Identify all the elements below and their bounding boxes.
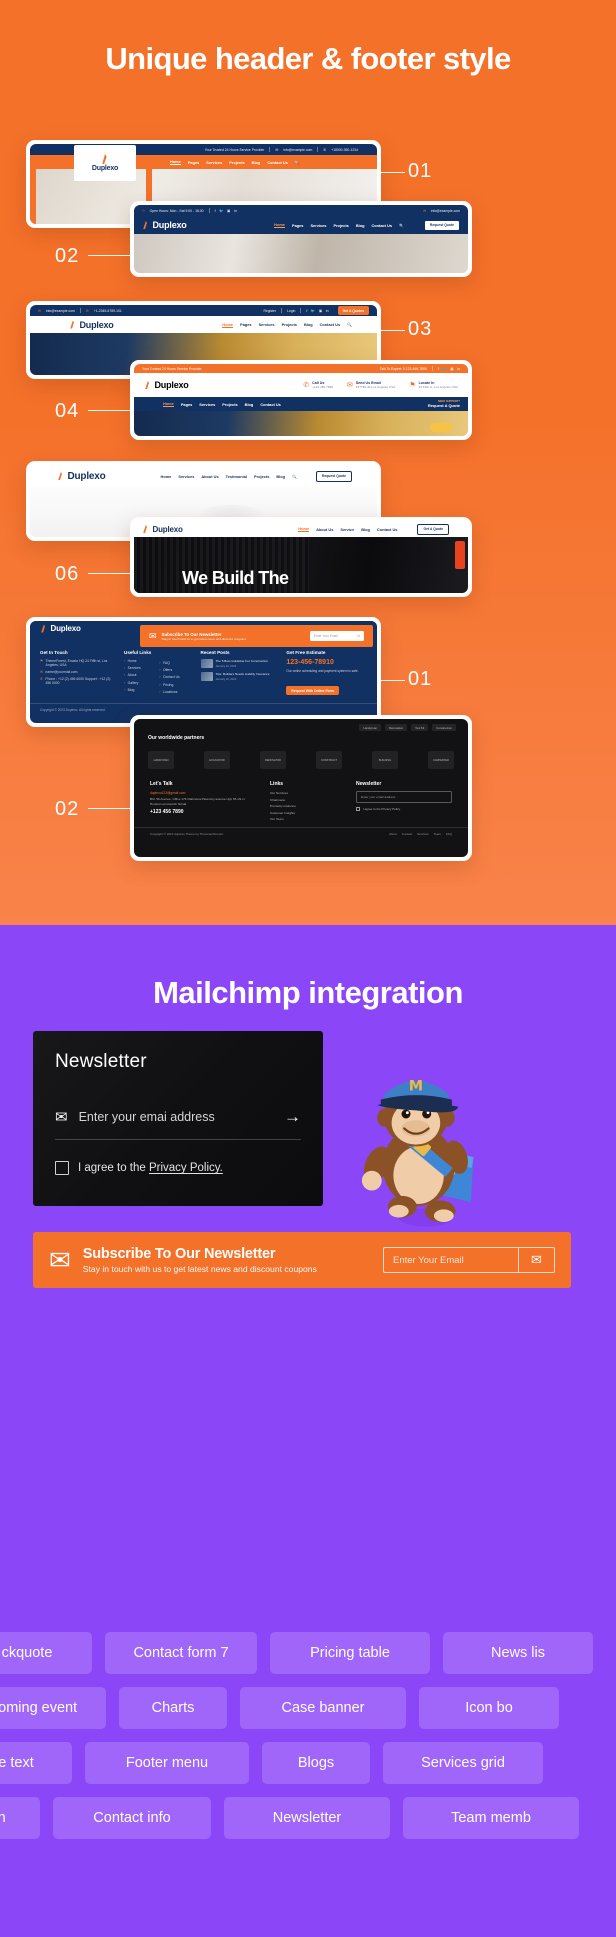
link-item[interactable]: Our Team <box>270 817 340 821</box>
nav-links[interactable]: Home About Us Service Blog Contact Us <box>298 526 397 532</box>
brand-logo[interactable]: Duplexo <box>144 380 189 390</box>
footer-copyright: Copyright © 2023 duplexo Theme by Themet… <box>150 832 224 836</box>
nav-home[interactable]: Home <box>274 222 285 228</box>
tab-handyman[interactable]: Handyman <box>359 724 381 731</box>
leader-line-f02 <box>88 808 130 809</box>
newsletter-card: Newsletter ✉ Enter your emai address → I… <box>33 1031 323 1206</box>
post-date: January 16, 2023 <box>216 678 270 681</box>
topbar-phone[interactable]: +1-2345-6789-101 <box>94 309 122 313</box>
footer-bottom-links[interactable]: About Contact Services Team FAQ <box>389 832 452 836</box>
call-us-block[interactable]: ✆ Call Us +123 456 7890 <box>303 381 333 389</box>
nav-contact[interactable]: Contact Us <box>371 223 392 228</box>
link-item[interactable]: Offers <box>163 668 172 672</box>
bottom-link[interactable]: FAQ <box>446 832 452 836</box>
nav-contact[interactable]: Contact Us <box>377 527 398 532</box>
nav-services[interactable]: Services <box>259 322 275 327</box>
mockup-02-topbar: ⏱ Open Hours: Mon - Sat 9.00 - 18.00 f 🐦… <box>134 205 468 216</box>
agree-prefix: I agree to the <box>78 1162 149 1174</box>
twitter-icon[interactable]: 🐦 <box>442 367 446 371</box>
nav-links[interactable]: Home Services About Us Testimonial Proje… <box>161 474 297 479</box>
pill-case-banner[interactable]: Case banner <box>240 1687 406 1729</box>
recent-post-item[interactable]: The 5 Best Guideline For Construction Ja… <box>201 659 278 668</box>
leader-line-01 <box>381 172 405 173</box>
partner-label: RENOVATOR <box>265 759 281 762</box>
link-item[interactable]: Our Services <box>270 791 340 795</box>
partner-logo: EXCAVATOR <box>204 751 230 769</box>
pill-blogs[interactable]: Blogs <box>262 1742 370 1784</box>
register-link[interactable]: Register <box>263 309 276 313</box>
col-title: Links <box>270 781 340 787</box>
mockup-number-03: 03 <box>408 318 432 341</box>
side-accent-bar <box>455 541 465 569</box>
mailchimp-title: Mailchimp integration <box>0 925 616 1011</box>
twitter-icon[interactable]: 🐦 <box>311 309 315 313</box>
mail-icon: ✉ <box>347 381 353 389</box>
instagram-icon[interactable]: ▣ <box>227 209 230 213</box>
brand-mark-icon <box>57 472 65 480</box>
brand-mark-icon <box>144 381 152 389</box>
brand-mark-icon <box>142 221 150 229</box>
brand-name: Duplexo <box>80 320 114 330</box>
brand-mark-icon <box>142 525 150 533</box>
headers-showcase-section: Unique header & footer style Your Truste… <box>0 0 616 925</box>
pill-blockquote[interactable]: ckquote <box>0 1632 92 1674</box>
leader-line-04 <box>88 410 130 411</box>
post-title[interactable]: The 5 Best Guideline For Construction <box>216 659 269 663</box>
request-quote-button[interactable]: Request Quote <box>424 220 460 231</box>
pill-footer-menu[interactable]: Footer menu <box>85 1742 249 1784</box>
footer-col-get-in-touch: Get In Touch ⚑ThemeForest, Envato HQ 24 … <box>40 650 115 697</box>
nav-projects[interactable]: Projects <box>333 223 348 228</box>
estimate-phone[interactable]: 123-456-78910 <box>286 659 367 666</box>
pill-team-member[interactable]: Team memb <box>403 1797 579 1839</box>
topbar-phone[interactable]: +18000-350-1234 <box>331 148 358 152</box>
nav-links[interactable]: Home Pages Services Projects Blog Contac… <box>274 222 404 228</box>
brand-name: Duplexo <box>153 525 183 534</box>
nav-service[interactable]: Service <box>340 527 354 532</box>
facebook-icon[interactable]: f <box>215 209 216 213</box>
nav-projects[interactable]: Projects <box>282 322 297 327</box>
pill-row: pcoming event Charts Case banner Icon bo <box>0 1687 616 1729</box>
locate-block[interactable]: ⚑ Locate In 24 Fifth st, Los Angeles USA <box>409 381 458 389</box>
link-item[interactable]: Home <box>128 659 137 663</box>
call-value: +123 456 7890 <box>312 385 333 389</box>
email-text[interactable]: duplexo123@gmail.com <box>150 791 254 795</box>
social-icons[interactable]: f 🐦 ▣ in <box>438 367 460 371</box>
footer-number-02: 02 <box>55 798 79 821</box>
email-text[interactable]: name@yourmail.com <box>45 670 77 674</box>
pill-news-list[interactable]: News lis <box>443 1632 593 1674</box>
request-quote-link[interactable]: Request A Quote <box>428 403 460 408</box>
linkedin-icon[interactable]: in <box>457 367 460 371</box>
subscribe-placeholder: Enter Your Email <box>314 634 338 638</box>
newsletter-email-placeholder: Enter your emai address <box>79 1110 215 1124</box>
nav-projects[interactable]: Projects <box>229 160 244 165</box>
envelope-at-icon: ✉ <box>49 1245 71 1276</box>
brand-logo[interactable]: Duplexo <box>142 220 187 230</box>
pill-services-grid[interactable]: Services grid <box>383 1742 543 1784</box>
nav-about[interactable]: About Us <box>316 527 333 532</box>
nav-pages[interactable]: Pages <box>292 223 303 228</box>
mail-icon: ✉ <box>275 148 278 152</box>
link-item[interactable]: Customer Insights <box>270 811 340 815</box>
brand-logo[interactable]: Duplexo <box>142 525 183 534</box>
partner-label: HANDYMAN <box>154 759 169 762</box>
facebook-icon[interactable]: f <box>306 309 307 313</box>
col-title: Let's Talk <box>150 781 254 787</box>
link-item[interactable]: Locations <box>163 690 178 694</box>
topbar-email[interactable]: info@example.com <box>431 209 460 213</box>
nav-blog[interactable]: Blog <box>304 322 313 327</box>
send-envelope-icon: ✉ <box>531 1252 542 1268</box>
tab-toolkit[interactable]: Tool Kit <box>411 724 428 731</box>
nav-home[interactable]: Home <box>163 401 174 407</box>
nav-blog[interactable]: Blog <box>252 160 261 165</box>
search-icon[interactable]: 🔍 <box>295 160 300 165</box>
phone-icon: ✆ <box>40 677 43 681</box>
subscribe-strip-sub: Stay in touch with us to get latest news… <box>83 1264 317 1274</box>
tab-construction[interactable]: Construction <box>432 724 456 731</box>
brand-name: Duplexo <box>51 624 81 633</box>
request-online-form-button[interactable]: Request With Online Form <box>286 686 339 695</box>
leader-line-03 <box>381 330 405 331</box>
nav-home[interactable]: Home <box>222 322 233 328</box>
send-email-block[interactable]: ✉ Send Us Email 247789.40.Los Angeles US… <box>347 381 395 389</box>
brand-logo[interactable]: Duplexo <box>57 471 106 482</box>
post-thumbnail <box>201 672 213 681</box>
locate-value: 24 Fifth st, Los Angeles USA <box>419 385 458 389</box>
nav-services[interactable]: Services <box>206 160 222 165</box>
nav-links[interactable]: Home Pages Services Projects Blog Contac… <box>163 401 281 407</box>
brand-logo[interactable]: Duplexo <box>40 624 81 633</box>
search-icon[interactable]: 🔍 <box>399 223 404 228</box>
brand-name: Duplexo <box>153 220 187 230</box>
nav-blog[interactable]: Blog <box>361 527 370 532</box>
newsletter-heading: Newsletter <box>55 1051 301 1073</box>
col-title: Recent Posts <box>201 650 278 655</box>
mail-icon: ✉ <box>423 209 426 213</box>
helmet-shape <box>430 423 452 432</box>
nav-links[interactable]: Home Pages Services Projects Blog Contac… <box>222 322 352 328</box>
post-thumbnail <box>201 659 213 668</box>
partner-logo: HANDYMAN <box>148 751 174 769</box>
instagram-icon[interactable]: ▣ <box>450 367 453 371</box>
mockup-04-topbar: Your Trusted 24 Hours Service Provider T… <box>134 364 468 373</box>
header-mockup-06[interactable]: Duplexo Home About Us Service Blog Conta… <box>130 517 472 597</box>
location-pin-icon: ⚑ <box>409 381 415 389</box>
privacy-agree-row[interactable]: I agree to the Privacy Policy. <box>356 807 452 811</box>
hero-image <box>134 234 468 273</box>
get-a-quote-button[interactable]: Get A Quote <box>417 524 449 535</box>
newsletter-input[interactable]: Enter your email address <box>356 791 452 803</box>
envelope-icon: ✉ <box>55 1108 68 1126</box>
topbar-tagline: Your Trusted 24 Hours Service Provider <box>142 367 202 371</box>
pill-row: e text Footer menu Blogs Services grid <box>0 1742 616 1784</box>
brand-mark-icon <box>101 154 110 164</box>
phone-icon: ✆ <box>86 309 89 313</box>
footer-mockup-01[interactable]: Duplexo ✉ Subscribe To Our Newsletter St… <box>26 617 381 727</box>
topbar-email[interactable]: info@example.com <box>283 148 312 152</box>
login-link[interactable]: Login <box>287 309 295 313</box>
mockup-04-navbar: Home Pages Services Projects Blog Contac… <box>134 397 468 411</box>
footer-mockup-02[interactable]: Handyman Renovation Tool Kit Constructio… <box>130 715 472 861</box>
clock-icon: ⏱ <box>142 209 145 213</box>
pill-icon-box[interactable]: Icon bo <box>419 1687 559 1729</box>
link-item[interactable]: About <box>128 673 137 677</box>
linkedin-icon[interactable]: in <box>326 309 329 313</box>
topbar-email[interactable]: info@example.com <box>46 309 75 313</box>
nav-blog[interactable]: Blog <box>356 223 365 228</box>
footer-02-tabs[interactable]: Handyman Renovation Tool Kit Constructio… <box>134 719 468 731</box>
nav-contact[interactable]: Contact Us <box>267 160 288 165</box>
mail-icon: ✉ <box>38 309 41 313</box>
recent-post-item[interactable]: Tips: Builders Needs Liability Insurance… <box>201 672 278 681</box>
mockup-number-04: 04 <box>55 400 79 423</box>
checkbox-icon[interactable] <box>356 807 360 811</box>
link-item[interactable]: FAQ <box>163 661 170 665</box>
brand-logo[interactable]: Duplexo <box>69 320 114 330</box>
footer-02-columns: Let's Talk duplexo123@gmail.com Bld. 56 … <box>134 777 468 821</box>
social-icons[interactable]: f 🐦 ▣ in <box>215 209 237 213</box>
partner-logos: HANDYMAN EXCAVATOR RENOVATOR CONSTRUCT B… <box>134 741 468 777</box>
topbar-tagline: Your Trusted 24 Hours Service Provider <box>205 148 265 152</box>
brand-name: Duplexo <box>155 380 189 390</box>
svg-text:M: M <box>409 1079 423 1095</box>
mockup-03-navbar: Duplexo Home Pages Services Projects Blo… <box>30 316 377 333</box>
nav-contact[interactable]: Contact Us <box>320 322 341 327</box>
brand-name: Duplexo <box>68 471 106 482</box>
post-date: January 10, 2023 <box>216 665 269 668</box>
nav-home[interactable]: Home <box>298 526 309 532</box>
hero-headline: We Build The <box>182 568 288 589</box>
partner-logo: RENOVATOR <box>260 751 286 769</box>
tag-pills-section: ckquote Contact form 7 Pricing table New… <box>0 1620 616 1937</box>
social-icons[interactable]: f 🐦 ▣ in <box>306 309 328 313</box>
header-mockup-04[interactable]: Your Trusted 24 Hours Service Provider T… <box>130 360 472 440</box>
link-item[interactable]: Prometry evidence <box>270 804 340 808</box>
partner-logo: BUILDING <box>372 751 398 769</box>
subscribe-strip: ✉ Subscribe To Our Newsletter Stay in to… <box>33 1232 571 1288</box>
partner-logo: CARPENTER <box>428 751 454 769</box>
col-title: Get Free Estimate <box>286 650 367 655</box>
privacy-policy-link[interactable]: Privacy Policy. <box>149 1162 223 1174</box>
col-title: Newsletter <box>356 781 452 787</box>
col-title: Useful Links <box>124 650 151 655</box>
nav-home[interactable]: Home <box>170 159 181 165</box>
link-item[interactable]: Pricing <box>163 683 173 687</box>
newsletter-email-field[interactable]: ✉ Enter your emai address → <box>55 1107 301 1140</box>
footer-col-free-estimate: Get Free Estimate 123-456-78910 Our onli… <box>286 650 367 697</box>
nav-services[interactable]: Services <box>178 474 194 479</box>
mockup-03-topbar: ✉ info@example.com ✆ +1-2345-6789-101 Re… <box>30 305 377 316</box>
pill-contact-info[interactable]: Contact info <box>53 1797 211 1839</box>
topbar-hours: Open Hours: Mon - Sat 9.00 - 18.00 <box>150 209 204 213</box>
col-title: Get In Touch <box>40 650 115 655</box>
link-item[interactable]: Chairmans <box>270 798 340 802</box>
link-item[interactable]: Blog <box>128 688 135 692</box>
pill-source-text[interactable]: e text <box>0 1742 72 1784</box>
location-pin-icon: ⚑ <box>40 659 43 663</box>
pill-pricing-table[interactable]: Pricing table <box>270 1632 430 1674</box>
nav-projects[interactable]: Projects <box>254 474 269 479</box>
leader-line-f01 <box>381 680 405 681</box>
search-icon[interactable]: 🔍 <box>292 474 297 479</box>
address-text: ThemeForest, Envato HQ 24 Fifth st, Los … <box>46 659 115 667</box>
partner-label: CARPENTER <box>433 759 449 762</box>
get-a-quote-button[interactable]: Get A Quotes <box>338 306 369 315</box>
bottom-link[interactable]: Team <box>434 832 441 836</box>
send-icon[interactable]: ✉ <box>357 634 360 638</box>
pill-newsletter[interactable]: Newsletter <box>224 1797 390 1839</box>
subscribe-strip-title: Subscribe To Our Newsletter <box>83 1246 317 1262</box>
nav-pages[interactable]: Pages <box>240 322 251 327</box>
brand-mark-icon <box>40 625 48 633</box>
subscribe-email-input[interactable]: Enter Your Email ✉ <box>310 631 364 641</box>
subscribe-strip-input[interactable]: Enter Your Email <box>384 1248 518 1272</box>
bottom-link[interactable]: About <box>389 832 397 836</box>
nav-testimonial[interactable]: Testimonial <box>226 474 247 479</box>
tab-renovation[interactable]: Renovation <box>385 724 407 731</box>
nav-services[interactable]: Services <box>199 402 215 407</box>
subscribe-sub: Stay in touch with us to get latest news… <box>162 637 246 641</box>
footer-col-newsletter: Newsletter Enter your email address I ag… <box>356 781 452 821</box>
nav-about[interactable]: About Us <box>201 474 218 479</box>
mail-icon: ✉ <box>40 670 43 674</box>
mockup-number-06: 06 <box>55 563 79 586</box>
nav-services[interactable]: Services <box>310 223 326 228</box>
footer-number-01: 01 <box>408 668 432 691</box>
partner-label: EXCAVATOR <box>209 759 224 762</box>
request-quote-button[interactable]: Request Quote <box>316 471 352 482</box>
subscribe-strip-send-button[interactable]: ✉ <box>518 1248 554 1272</box>
nav-links[interactable]: Home Pages Services Projects Blog Contac… <box>170 159 300 165</box>
footer-col-useful-links: Useful Links ›Home ›Services ›About ›Gal… <box>124 650 192 697</box>
mockup-06-navbar: Duplexo Home About Us Service Blog Conta… <box>134 521 468 537</box>
phone-icon: ✆ <box>323 148 326 152</box>
footer-02-bottom: Copyright © 2023 duplexo Theme by Themet… <box>134 827 468 840</box>
nav-pages[interactable]: Pages <box>188 160 199 165</box>
nav-blog[interactable]: Blog <box>276 474 285 479</box>
partner-label: BUILDING <box>379 759 391 762</box>
mailchimp-monkey-mascot: M <box>325 1060 505 1240</box>
pill-row: ckquote Contact form 7 Pricing table New… <box>0 1632 616 1674</box>
instagram-icon[interactable]: ▣ <box>319 309 322 313</box>
nav-contact[interactable]: Contact Us <box>260 402 281 407</box>
phone-text[interactable]: Phone : +12 (2) 456 6000 Support : +12 (… <box>45 677 115 685</box>
logo-box[interactable]: Duplexo <box>74 145 136 181</box>
newsletter-agree-row[interactable]: I agree to the Privacy Policy. <box>55 1161 301 1175</box>
search-icon[interactable]: 🔍 <box>347 322 352 327</box>
partner-label: CONSTRUCT <box>321 759 337 762</box>
footer-col-lets-talk: Let's Talk duplexo123@gmail.com Bld. 56 … <box>150 781 254 821</box>
partners-title: Our worldwide partners <box>134 731 468 741</box>
agree-text: I agree to the Privacy Policy. <box>78 1162 223 1174</box>
footer-col-recent-posts: Recent Posts The 5 Best Guideline For Co… <box>201 650 278 697</box>
pill-upcoming-event[interactable]: pcoming event <box>0 1687 106 1729</box>
linkedin-icon[interactable]: in <box>234 209 237 213</box>
hero-image <box>134 411 468 436</box>
topbar-talk[interactable]: Talk To Expert: 0 123-456-7890 <box>380 367 427 371</box>
nav-blog[interactable]: Blog <box>245 402 254 407</box>
mockup-number-01: 01 <box>408 160 432 183</box>
subscribe-strip-input-group[interactable]: Enter Your Email ✉ <box>383 1247 555 1273</box>
leader-line-06 <box>88 573 130 574</box>
footer-copyright: Copyright © 2023 Duplexo. All rights res… <box>30 703 377 716</box>
post-title[interactable]: Tips: Builders Needs Liability Insurance <box>216 672 270 676</box>
brand-name: Duplexo <box>92 165 118 172</box>
phone-text[interactable]: +123 456 7890 <box>150 809 254 815</box>
mockup-04-inforow: Duplexo ✆ Call Us +123 456 7890 ✉ Send U… <box>134 373 468 397</box>
link-item[interactable]: Services <box>128 666 141 670</box>
mockup-02-navbar: Duplexo Home Pages Services Projects Blo… <box>134 216 468 234</box>
pill-charts[interactable]: Charts <box>119 1687 227 1729</box>
envelope-icon: ✉ <box>149 631 157 642</box>
leader-line-02 <box>88 255 130 256</box>
privacy-label: I agree to the Privacy Policy. <box>363 807 401 811</box>
twitter-icon[interactable]: 🐦 <box>219 209 223 213</box>
nav-home[interactable]: Home <box>161 474 172 479</box>
email-value: 247789.40.Los Angeles USA <box>356 385 396 389</box>
bottom-link[interactable]: Services <box>417 832 429 836</box>
checkbox-icon[interactable] <box>55 1161 69 1175</box>
nav-pages[interactable]: Pages <box>181 402 192 407</box>
header-mockup-02[interactable]: ⏱ Open Hours: Mon - Sat 9.00 - 18.00 f 🐦… <box>130 201 472 277</box>
partner-logo: CONSTRUCT <box>316 751 342 769</box>
brand-mark-icon <box>69 321 77 329</box>
footer-col-links: Links Our Services Chairmans Prometry ev… <box>270 781 340 821</box>
facebook-icon[interactable]: f <box>438 367 439 371</box>
mockup-number-02: 02 <box>55 245 79 268</box>
phone-icon: ✆ <box>303 381 309 389</box>
bottom-link[interactable]: Contact <box>402 832 412 836</box>
link-item[interactable]: Gallery <box>128 681 139 685</box>
mockup-05-navbar: Duplexo Home Services About Us Testimoni… <box>30 465 377 487</box>
nav-projects[interactable]: Projects <box>222 402 237 407</box>
section-title: Unique header & footer style <box>88 0 528 80</box>
address-text: Bld. 56 Avenue, Office 176 Olatmona Pave… <box>150 797 254 806</box>
estimate-text: Our online scheduling and payment system… <box>286 669 367 674</box>
pill-search[interactable]: ch <box>0 1797 40 1839</box>
arrow-right-icon[interactable]: → <box>284 1107 301 1127</box>
link-item[interactable]: Contact Us <box>163 675 180 679</box>
footer-01-subscribe-strip: ✉ Subscribe To Our Newsletter Stay in to… <box>140 625 373 647</box>
pill-contact-form-7[interactable]: Contact form 7 <box>105 1632 257 1674</box>
pill-row: ch Contact info Newsletter Team memb <box>0 1797 616 1839</box>
